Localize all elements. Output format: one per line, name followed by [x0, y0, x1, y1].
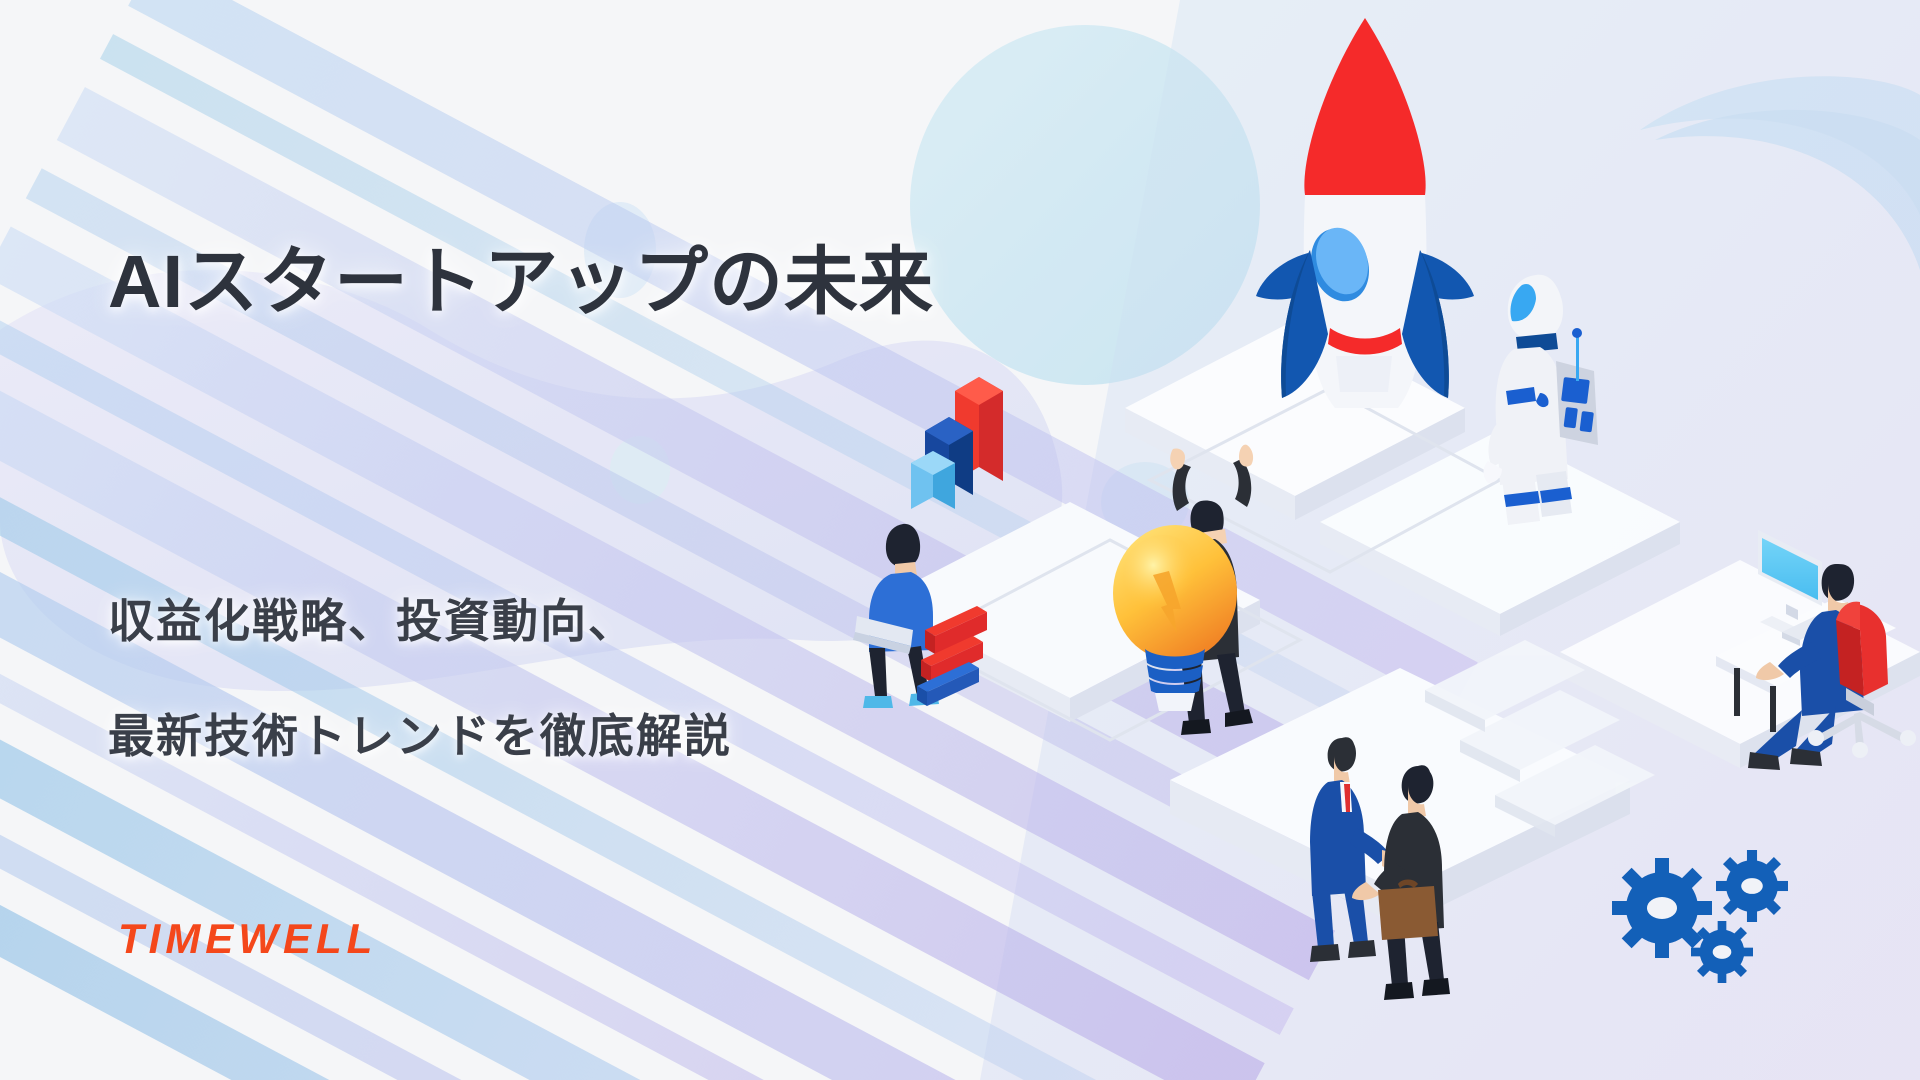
banner-canvas: AIスタートアップの未来 収益化戦略、投資動向、 最新技術トレンドを徹底解説 T…	[0, 0, 1920, 1080]
brand-logo: TIMEWELL	[118, 915, 377, 963]
success-illustration	[1170, 445, 1253, 735]
gears-illustration	[1612, 850, 1788, 983]
rocket-illustration	[1256, 18, 1474, 408]
idea-illustration	[1113, 525, 1237, 711]
workstation-illustration	[1716, 530, 1916, 770]
text-content: AIスタートアップの未来 収益化戦略、投資動向、 最新技術トレンドを徹底解説 T…	[0, 0, 1100, 1080]
partnership-illustration	[1310, 737, 1450, 1000]
page-title: AIスタートアップの未来	[108, 222, 934, 329]
subtitle-line-2: 最新技術トレンドを徹底解説	[108, 700, 732, 766]
astronaut-illustration	[1484, 275, 1599, 525]
subtitle-line-1: 収益化戦略、投資動向、	[108, 585, 636, 651]
